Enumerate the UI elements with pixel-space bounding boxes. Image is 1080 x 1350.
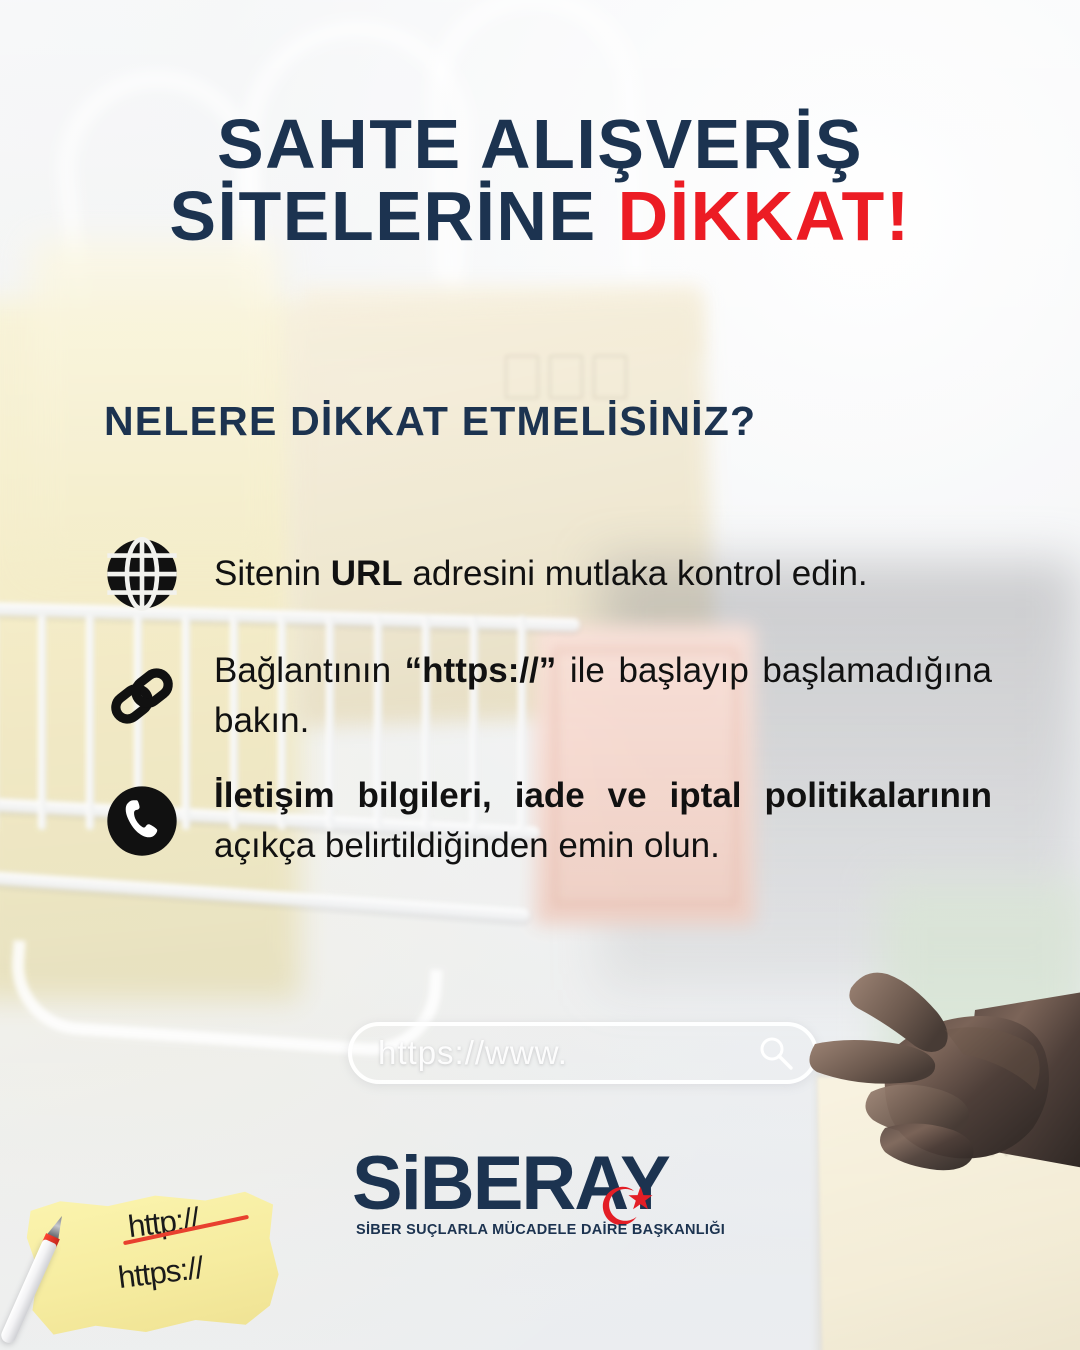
search-icon[interactable]	[756, 1033, 796, 1073]
list-item-text: İletişim bilgileri, iade ve iptal politi…	[188, 771, 996, 870]
list-item: Bağlantının “https://” ile başlayıp başl…	[96, 646, 996, 745]
siberay-logo: SiBERAY SİBER SUÇLARLA MÜCADELE DAİRE BA…	[352, 1146, 732, 1256]
list-item: İletişim bilgileri, iade ve iptal politi…	[96, 771, 996, 870]
list-item-text: Sitenin URL adresini mutlaka kontrol edi…	[188, 549, 996, 599]
chain-link-icon	[96, 650, 188, 742]
bullet-3-segment-1: İletişim bilgileri, iade ve iptal politi…	[214, 776, 992, 815]
list-item-text: Bağlantının “https://” ile başlayıp başl…	[188, 646, 996, 745]
page-title: SAHTE ALIŞVERİŞ SİTELERİNE DİKKAT!	[0, 108, 1080, 252]
bullet-3-segment-2: açıkça belirtildiğinden emin olun.	[214, 826, 720, 865]
search-input[interactable]: https://www.	[348, 1022, 818, 1084]
list-item: Sitenin URL adresini mutlaka kontrol edi…	[96, 528, 996, 620]
bullet-1-segment-3: adresini mutlaka kontrol edin.	[403, 554, 868, 593]
headline-line-2: SİTELERİNE DİKKAT!	[0, 180, 1080, 252]
section-subheading: NELERE DİKKAT ETMELİSİNİZ?	[104, 398, 756, 445]
pointing-hand	[795, 960, 1080, 1210]
globe-icon	[96, 528, 188, 620]
bullet-1-segment-2: URL	[331, 554, 403, 593]
headline-emphasis: DİKKAT!	[618, 177, 911, 255]
poster-canvas: FRAGILE SAHTE ALIŞVERİŞ SİTELERİNE DİKKA…	[0, 0, 1080, 1350]
advice-list: Sitenin URL adresini mutlaka kontrol edi…	[96, 528, 996, 897]
headline-line-1: SAHTE ALIŞVERİŞ	[0, 108, 1080, 180]
search-input-value[interactable]: https://www.	[378, 1034, 756, 1072]
bullet-2-segment-1: Bağlantının	[214, 651, 405, 690]
poster-content: SAHTE ALIŞVERİŞ SİTELERİNE DİKKAT! NELER…	[0, 0, 1080, 1350]
logo-tagline: SİBER SUÇLARLA MÜCADELE DAİRE BAŞKANLIĞI	[356, 1222, 725, 1238]
headline-line-2-prefix: SİTELERİNE	[169, 177, 617, 255]
bullet-2-segment-2: “https://”	[405, 651, 557, 690]
phone-icon	[96, 775, 188, 867]
bullet-1-segment-1: Sitenin	[214, 554, 331, 593]
